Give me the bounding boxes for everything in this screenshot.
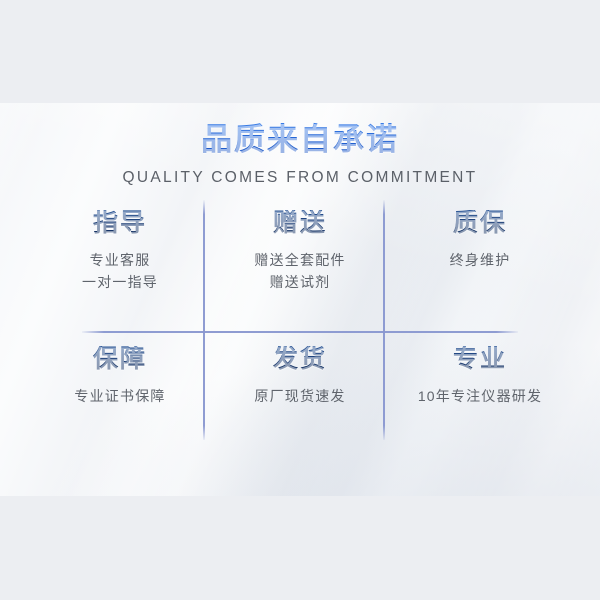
feature-description: 10年专注仪器研发 bbox=[418, 385, 542, 408]
feature-line: 终身维护 bbox=[450, 249, 511, 272]
feature-description: 原厂现货速发 bbox=[254, 385, 345, 408]
feature-cell-shipping: 发货 原厂现货速发 bbox=[210, 321, 390, 446]
panel-header: 品质来自承诺 QUALITY COMES FROM COMMITMENT bbox=[0, 122, 600, 187]
feature-cell-gift: 赠送 赠送全套配件 赠送试剂 bbox=[210, 196, 390, 321]
feature-description: 专业客服 一对一指导 bbox=[82, 249, 158, 294]
feature-line: 专业证书保障 bbox=[74, 385, 165, 408]
feature-grid: 指导 专业客服 一对一指导 赠送 赠送全套配件 赠送试剂 质保 bbox=[30, 196, 570, 446]
promo-panel: 品质来自承诺 QUALITY COMES FROM COMMITMENT 指导 … bbox=[0, 103, 600, 496]
feature-heading: 保障 bbox=[93, 346, 147, 374]
feature-cell-guidance: 指导 专业客服 一对一指导 bbox=[30, 196, 210, 321]
feature-line: 10年专注仪器研发 bbox=[418, 385, 542, 408]
feature-line: 一对一指导 bbox=[82, 271, 158, 294]
page-title: 品质来自承诺 bbox=[0, 122, 600, 159]
feature-heading: 赠送 bbox=[273, 210, 327, 238]
feature-heading: 质保 bbox=[453, 210, 507, 238]
feature-line: 赠送试剂 bbox=[254, 271, 345, 294]
page-subtitle: QUALITY COMES FROM COMMITMENT bbox=[0, 169, 600, 187]
feature-cell-warranty: 质保 终身维护 bbox=[390, 196, 570, 321]
feature-line: 专业客服 bbox=[82, 249, 158, 272]
feature-description: 专业证书保障 bbox=[74, 385, 165, 408]
feature-description: 终身维护 bbox=[450, 249, 511, 272]
feature-cell-expertise: 专业 10年专注仪器研发 bbox=[390, 321, 570, 446]
feature-heading: 专业 bbox=[453, 346, 507, 374]
feature-cell-assurance: 保障 专业证书保障 bbox=[30, 321, 210, 446]
feature-heading: 指导 bbox=[93, 210, 147, 238]
feature-line: 赠送全套配件 bbox=[254, 249, 345, 272]
feature-description: 赠送全套配件 赠送试剂 bbox=[254, 249, 345, 294]
promo-banner-canvas: 品质来自承诺 QUALITY COMES FROM COMMITMENT 指导 … bbox=[0, 0, 600, 600]
feature-line: 原厂现货速发 bbox=[254, 385, 345, 408]
feature-heading: 发货 bbox=[273, 346, 327, 374]
